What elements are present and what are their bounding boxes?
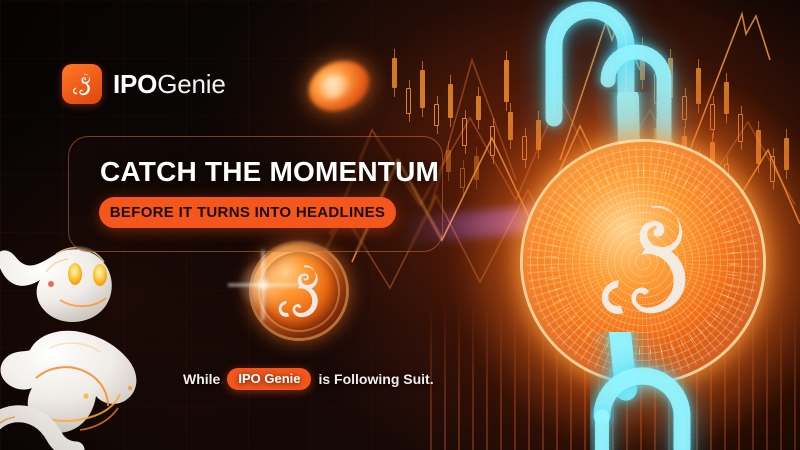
tagline-suffix: is Following Suit. xyxy=(318,371,433,387)
blockchain-link-bottom-icon xyxy=(590,332,750,450)
page-title: CATCH THE MOMENTUM xyxy=(100,158,420,186)
genie-lamp-icon xyxy=(62,64,102,104)
tagline: While IPO Genie is Following Suit. xyxy=(183,368,434,390)
promo-banner: IPOGenie CATCH THE MOMENTUM BEFORE IT TU… xyxy=(0,0,800,450)
genie-icon xyxy=(568,187,718,337)
coin-lens-flare xyxy=(232,254,294,316)
headline-panel xyxy=(68,136,443,252)
subheadline-pill: BEFORE IT TURNS INTO HEADLINES xyxy=(99,197,396,228)
brand-name-light: Genie xyxy=(157,69,225,99)
tagline-prefix: While xyxy=(183,371,220,387)
brand-wordmark: IPOGenie xyxy=(113,71,226,97)
genie-mascot-tail xyxy=(0,398,100,450)
brand-name-bold: IPO xyxy=(113,69,157,99)
brand-logo[interactable]: IPOGenie xyxy=(62,64,226,104)
subheadline-text: BEFORE IT TURNS INTO HEADLINES xyxy=(110,204,385,221)
tagline-brand-pill: IPO Genie xyxy=(227,368,311,390)
